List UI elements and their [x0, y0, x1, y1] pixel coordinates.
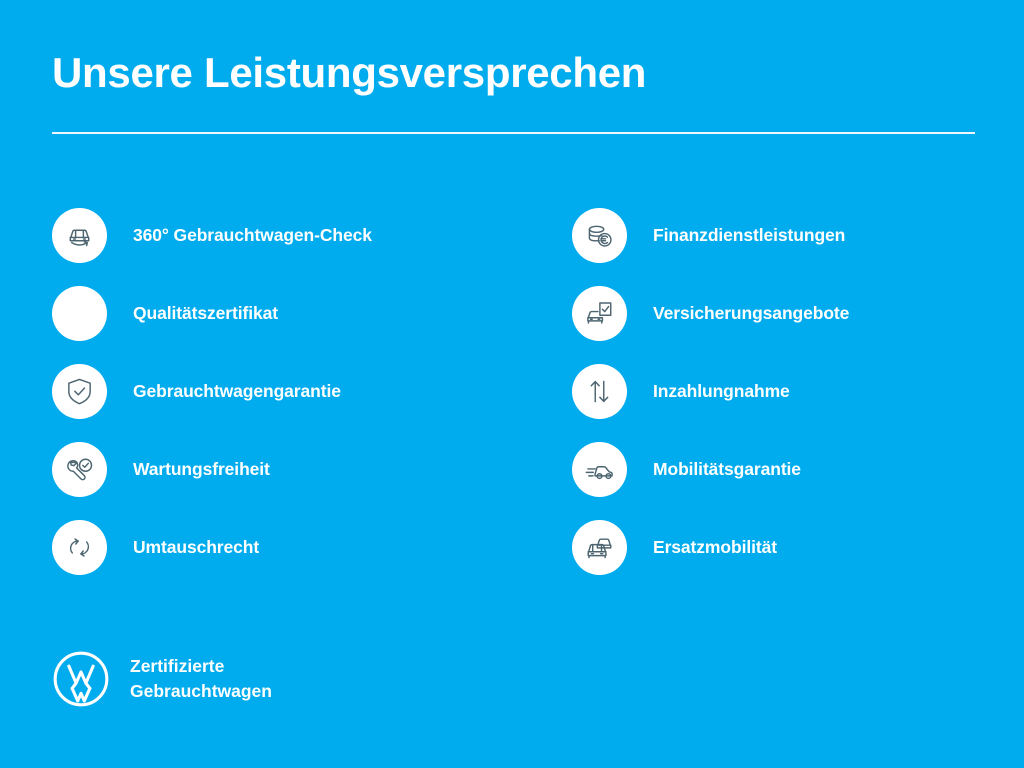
feature-label: Ersatzmobilität [653, 537, 777, 558]
feature-item[interactable]: Ersatzmobilität [572, 508, 992, 586]
feature-label: 360° Gebrauchtwagen-Check [133, 225, 372, 246]
brand-text: Zertifizierte Gebrauchtwagen [130, 654, 272, 704]
feature-column-right: Finanzdienstleistungen Versicherungsange… [572, 196, 992, 586]
feature-column-left: 360° Gebrauchtwagen-Check Qualitätszerti… [52, 196, 522, 586]
feature-label: Versicherungsangebote [653, 303, 849, 324]
two-cars-icon [572, 520, 627, 575]
arrows-up-down-icon [572, 364, 627, 419]
feature-item[interactable]: Wartungsfreiheit [52, 430, 522, 508]
car-360-check-icon [52, 208, 107, 263]
feature-item[interactable]: 360° Gebrauchtwagen-Check [52, 196, 522, 274]
feature-item[interactable]: Versicherungsangebote [572, 274, 992, 352]
feature-label: Inzahlungnahme [653, 381, 790, 402]
car-motion-icon [572, 442, 627, 497]
brand-line-1: Zertifizierte [130, 654, 272, 679]
feature-item[interactable]: Finanzdienstleistungen [572, 196, 992, 274]
shield-check-icon [52, 364, 107, 419]
feature-label: Wartungsfreiheit [133, 459, 270, 480]
feature-item[interactable]: Gebrauchtwagengarantie [52, 352, 522, 430]
exchange-arrows-icon [52, 520, 107, 575]
page-title: Unsere Leistungsversprechen [52, 50, 646, 96]
award-rosette-icon [52, 286, 107, 341]
feature-label: Gebrauchtwagengarantie [133, 381, 341, 402]
feature-item[interactable]: Umtauschrecht [52, 508, 522, 586]
wrench-check-icon [52, 442, 107, 497]
title-divider [52, 132, 975, 134]
promise-slide: Unsere Leistungsversprechen [0, 0, 1024, 768]
feature-label: Mobilitätsgarantie [653, 459, 801, 480]
feature-label: Finanzdienstleistungen [653, 225, 845, 246]
feature-label: Qualitätszertifikat [133, 303, 278, 324]
feature-item[interactable]: Mobilitätsgarantie [572, 430, 992, 508]
coins-euro-icon [572, 208, 627, 263]
volkswagen-logo-icon [52, 650, 110, 708]
feature-label: Umtauschrecht [133, 537, 259, 558]
feature-item[interactable]: Qualitätszertifikat [52, 274, 522, 352]
car-document-check-icon [572, 286, 627, 341]
brand-line-2: Gebrauchtwagen [130, 679, 272, 704]
feature-item[interactable]: Inzahlungnahme [572, 352, 992, 430]
brand-footer: Zertifizierte Gebrauchtwagen [52, 650, 272, 708]
